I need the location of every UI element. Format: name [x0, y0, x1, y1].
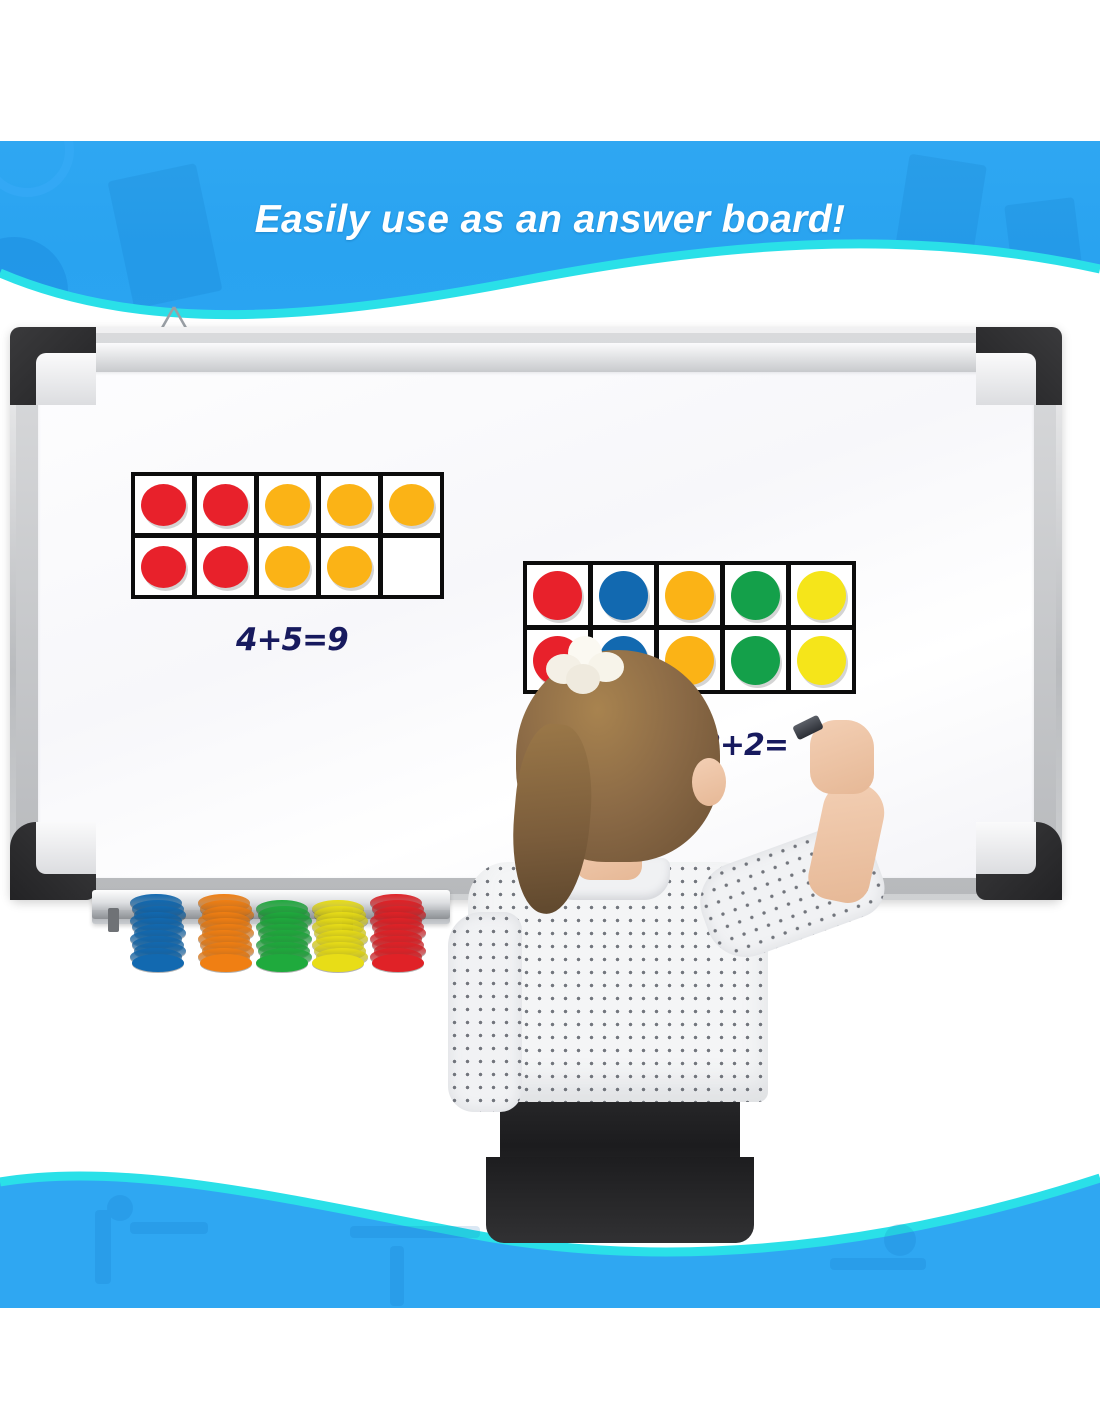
- ten-frame-cell[interactable]: [135, 476, 192, 533]
- counter-disc: [256, 954, 308, 972]
- ten-frame-grid-1: [131, 472, 444, 599]
- counter-stack-yellow[interactable]: [310, 900, 370, 978]
- left-arm-pattern: [448, 912, 522, 1112]
- counter-chip-red[interactable]: [141, 484, 186, 526]
- corner-protector-bottom-left: [10, 822, 96, 900]
- ten-frame-cell[interactable]: [135, 538, 192, 595]
- ten-frame-row: [135, 538, 440, 595]
- counter-disc: [132, 954, 184, 972]
- ear: [692, 758, 726, 806]
- corner-protector-top-right: [976, 327, 1062, 405]
- ten-frame-cell[interactable]: [383, 538, 440, 595]
- flower-hair-clip: [546, 636, 624, 698]
- product-lifestyle-image: Easily use as an answer board! 4+5=9 2+2…: [0, 0, 1100, 1422]
- counter-chip-red[interactable]: [141, 546, 186, 588]
- page-title: Easily use as an answer board!: [0, 198, 1100, 242]
- skirt-hem: [486, 1157, 754, 1243]
- counter-chip-orange[interactable]: [265, 484, 310, 526]
- ten-frame-cell[interactable]: [259, 538, 316, 595]
- tray-bracket: [108, 908, 119, 932]
- counter-disc: [200, 954, 252, 972]
- ten-frame-cell[interactable]: [197, 538, 254, 595]
- ten-frame-cell[interactable]: [321, 476, 378, 533]
- counter-stack-red[interactable]: [368, 894, 428, 978]
- corner-protector-top-left: [10, 327, 96, 405]
- ten-frame-cell[interactable]: [383, 476, 440, 533]
- counter-stack-green[interactable]: [254, 900, 314, 978]
- counter-chip-orange[interactable]: [327, 484, 372, 526]
- ten-frame-cell[interactable]: [259, 476, 316, 533]
- equation-1: 4+5=9: [236, 622, 348, 658]
- counter-chip-orange[interactable]: [265, 546, 310, 588]
- girl-figure: [420, 612, 940, 1212]
- ten-frame-row: [135, 476, 440, 533]
- ten-frame-cell[interactable]: [197, 476, 254, 533]
- whiteboard-top-rail: [32, 343, 1040, 373]
- counter-chip-orange[interactable]: [327, 546, 372, 588]
- corner-protector-bottom-right: [976, 822, 1062, 900]
- counter-chip-red[interactable]: [203, 546, 248, 588]
- counter-chip-orange[interactable]: [389, 484, 434, 526]
- counter-disc: [312, 954, 364, 972]
- right-hand: [810, 720, 874, 794]
- counter-chip-red[interactable]: [203, 484, 248, 526]
- ten-frame-cell[interactable]: [321, 538, 378, 595]
- counter-disc: [372, 954, 424, 972]
- counter-stack-blue[interactable]: [128, 894, 188, 978]
- counter-stack-orange[interactable]: [196, 894, 256, 978]
